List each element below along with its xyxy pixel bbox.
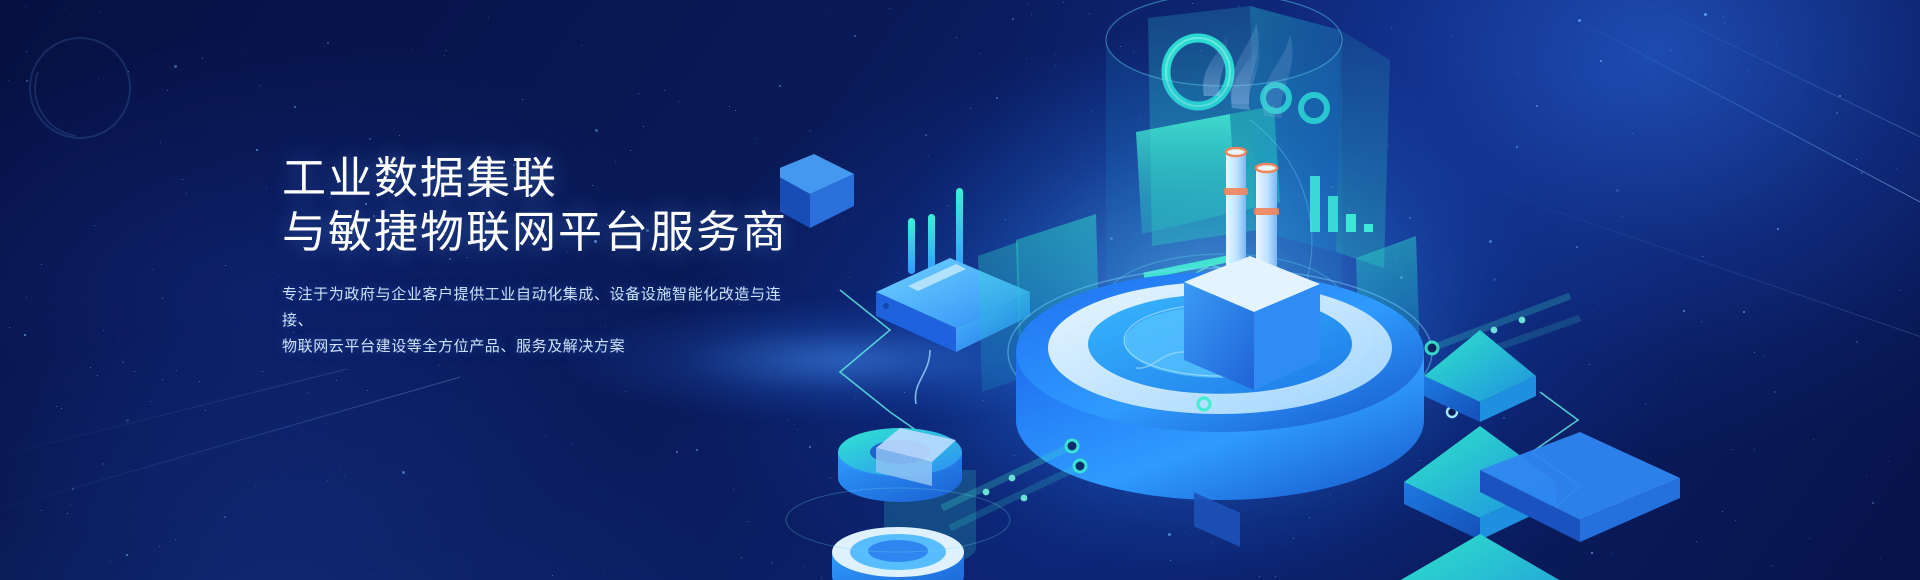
headline-line-1: 工业数据集联 <box>282 152 902 206</box>
subtitle-line-1: 专注于为政府与企业客户提供工业自动化集成、设备设施智能化改造与连接、 <box>282 282 802 334</box>
crescent-moon-icon <box>20 28 140 148</box>
subtitle-line-2: 物联网云平台建设等全方位产品、服务及解决方案 <box>282 334 802 360</box>
headline-line-2: 与敏捷物联网平台服务商 <box>282 206 902 260</box>
hero-banner: 工业数据集联 与敏捷物联网平台服务商 专注于为政府与企业客户提供工业自动化集成、… <box>0 0 1920 580</box>
subtitle: 专注于为政府与企业客户提供工业自动化集成、设备设施智能化改造与连接、 物联网云平… <box>282 282 802 360</box>
isometric-illustration <box>780 0 1920 580</box>
hero-copy: 工业数据集联 与敏捷物联网平台服务商 专注于为政府与企业客户提供工业自动化集成、… <box>282 152 902 360</box>
